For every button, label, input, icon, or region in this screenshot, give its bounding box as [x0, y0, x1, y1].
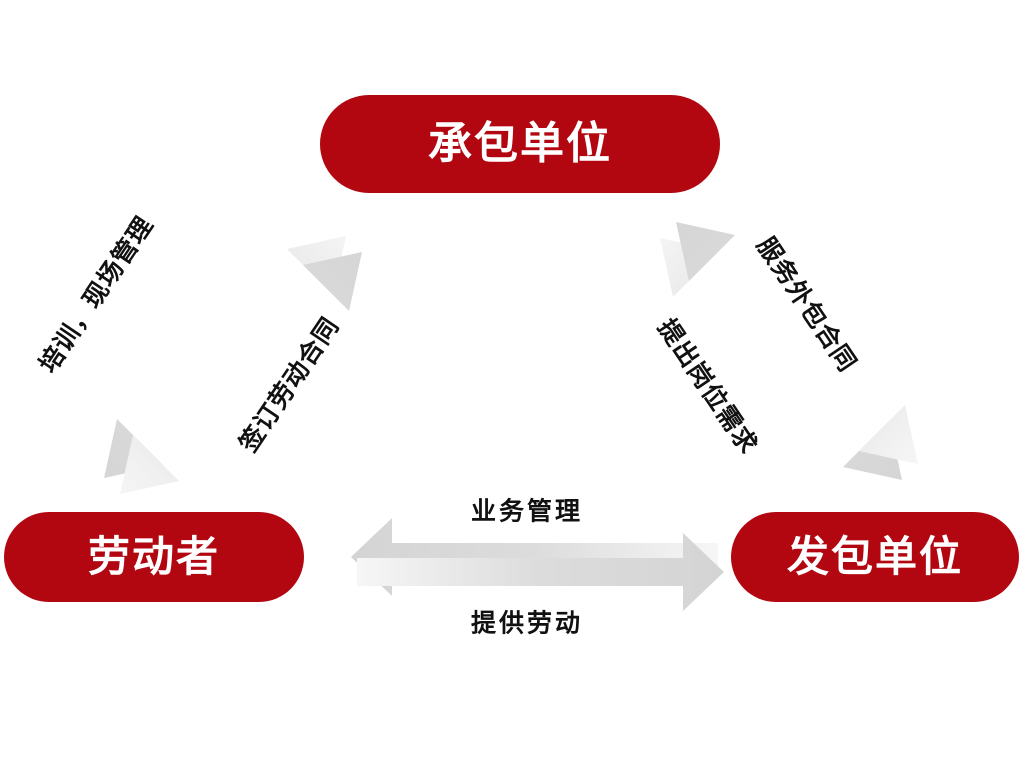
node-worker[interactable]: 劳动者 [4, 512, 304, 602]
arrow-right-down [676, 222, 918, 464]
edge-label-provide-labor: 提供劳动 [471, 612, 583, 637]
node-worker-label: 劳动者 [88, 536, 220, 578]
arrow-left-down [120, 252, 362, 494]
edge-label-business-management: 业务管理 [471, 500, 583, 525]
node-contractor-label: 承包单位 [428, 122, 612, 166]
diagram-canvas: 承包单位 劳动者 发包单位 培训，现场管理 签订劳动合同 服务外包合同 提出岗位… [0, 0, 1024, 768]
node-client[interactable]: 发包单位 [731, 512, 1019, 602]
node-client-label: 发包单位 [787, 536, 963, 578]
node-contractor[interactable]: 承包单位 [320, 95, 720, 193]
